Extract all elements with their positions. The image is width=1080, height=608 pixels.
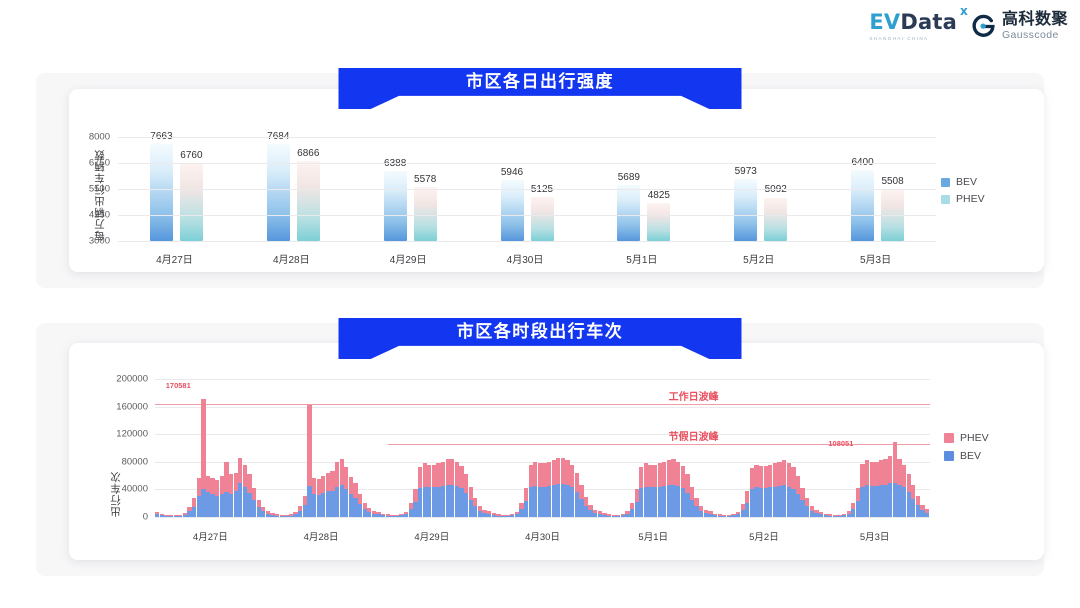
chart-1-x-tick: 4月29日	[390, 251, 427, 266]
legend-label-bev: BEV	[960, 450, 981, 462]
evdata-suffix: Data	[900, 10, 957, 34]
chart-2-hour-bar	[925, 379, 929, 517]
gridline	[118, 241, 936, 242]
chart-2-bar-container	[155, 379, 930, 517]
chart-2-x-tick: 5月1日	[638, 529, 668, 543]
chart-1-y-tick: 4250	[89, 210, 110, 221]
chart-1-y-tick: 8000	[89, 132, 110, 143]
brand-logo-bar: EVDatax shanghai china 高科数聚 Gausscode	[869, 12, 1068, 41]
chart-2-annotation-label: 工作日波峰	[669, 388, 719, 403]
gridline	[118, 215, 936, 216]
evdata-logo: EVDatax shanghai china	[869, 12, 957, 41]
chart-2-x-tick: 5月3日	[860, 529, 890, 543]
chart-1-x-tick: 5月2日	[743, 251, 774, 266]
chart-1-x-tick: 4月27日	[156, 251, 193, 266]
chart-1-y-tick: 3000	[89, 236, 110, 247]
chart-2-y-tick: 160000	[116, 401, 148, 412]
legend-swatch-bev	[941, 178, 950, 187]
chart-1-x-tick: 4月28日	[273, 251, 310, 266]
chart-1-axis-layer: 300042505500675080004月27日4月28日4月29日4月30日…	[118, 137, 936, 241]
chart-1-x-tick: 5月3日	[860, 251, 891, 266]
chart-2-y-tick: 0	[143, 512, 148, 523]
slide-root: EVDatax shanghai china 高科数聚 Gausscode 市区…	[0, 0, 1080, 608]
legend-swatch-bev	[944, 451, 954, 461]
chart-2-peak-value: 108051	[828, 439, 853, 448]
gausscode-cn-name: 高科数聚	[1002, 12, 1068, 28]
gridline	[118, 137, 936, 138]
legend-label-bev: BEV	[956, 176, 977, 188]
chart-2-x-tick: 4月30日	[525, 529, 560, 543]
legend-item-bev[interactable]: BEV	[941, 176, 985, 188]
chart-2-y-tick: 120000	[116, 429, 148, 440]
chart-2-annotation-label: 节假日波峰	[669, 428, 719, 443]
gridline	[118, 189, 936, 190]
gausscode-logo: 高科数聚 Gausscode	[971, 12, 1068, 41]
chart-2-legend: PHEV BEV	[944, 432, 989, 462]
legend-item-phev[interactable]: PHEV	[941, 193, 985, 205]
chart-2-x-tick: 4月27日	[193, 529, 228, 543]
chart-2-x-tick: 4月29日	[414, 529, 449, 543]
chart-2-y-tick: 200000	[116, 374, 148, 385]
chart-2-y-tick: 40000	[122, 484, 148, 495]
legend-label-phev: PHEV	[960, 432, 989, 444]
chart-2-plot-area: 040000800001200001600002000004月27日4月28日4…	[155, 379, 930, 517]
evdata-tagline: shanghai china	[869, 36, 928, 41]
gridline	[155, 517, 930, 518]
gausscode-mark-icon	[971, 14, 996, 39]
chart-1-y-tick: 6750	[89, 158, 110, 169]
chart-1-y-tick: 5500	[89, 184, 110, 195]
legend-item-bev[interactable]: BEV	[944, 450, 989, 462]
chart-2-annotation-line	[155, 404, 930, 406]
section-2-title: 市区各时段出行车次	[457, 318, 624, 346]
legend-swatch-phev	[941, 195, 950, 204]
gausscode-en-name: Gausscode	[1002, 30, 1068, 41]
chart-2-segment-phev	[925, 509, 929, 512]
legend-swatch-phev	[944, 433, 954, 443]
chart-2-x-tick: 5月2日	[749, 529, 779, 543]
chart-2-x-tick: 4月28日	[304, 529, 339, 543]
evdata-superscript: x	[960, 5, 968, 17]
evdata-wordmark: EVDatax	[869, 12, 957, 33]
chart-1-x-tick: 4月30日	[507, 251, 544, 266]
chart-2-y-axis-label: 出行车次	[108, 379, 123, 517]
chart-2-peak-value: 170581	[166, 381, 191, 390]
legend-label-phev: PHEV	[956, 193, 985, 205]
evdata-prefix: EV	[869, 10, 900, 34]
gridline	[118, 163, 936, 164]
chart-1-legend: BEV PHEV	[941, 176, 985, 205]
section-1-title: 市区各日出行强度	[466, 68, 614, 96]
chart-2-y-tick: 80000	[122, 456, 148, 467]
legend-item-phev[interactable]: PHEV	[944, 432, 989, 444]
chart-2-segment-bev	[925, 513, 929, 517]
chart-1-x-tick: 5月1日	[626, 251, 657, 266]
